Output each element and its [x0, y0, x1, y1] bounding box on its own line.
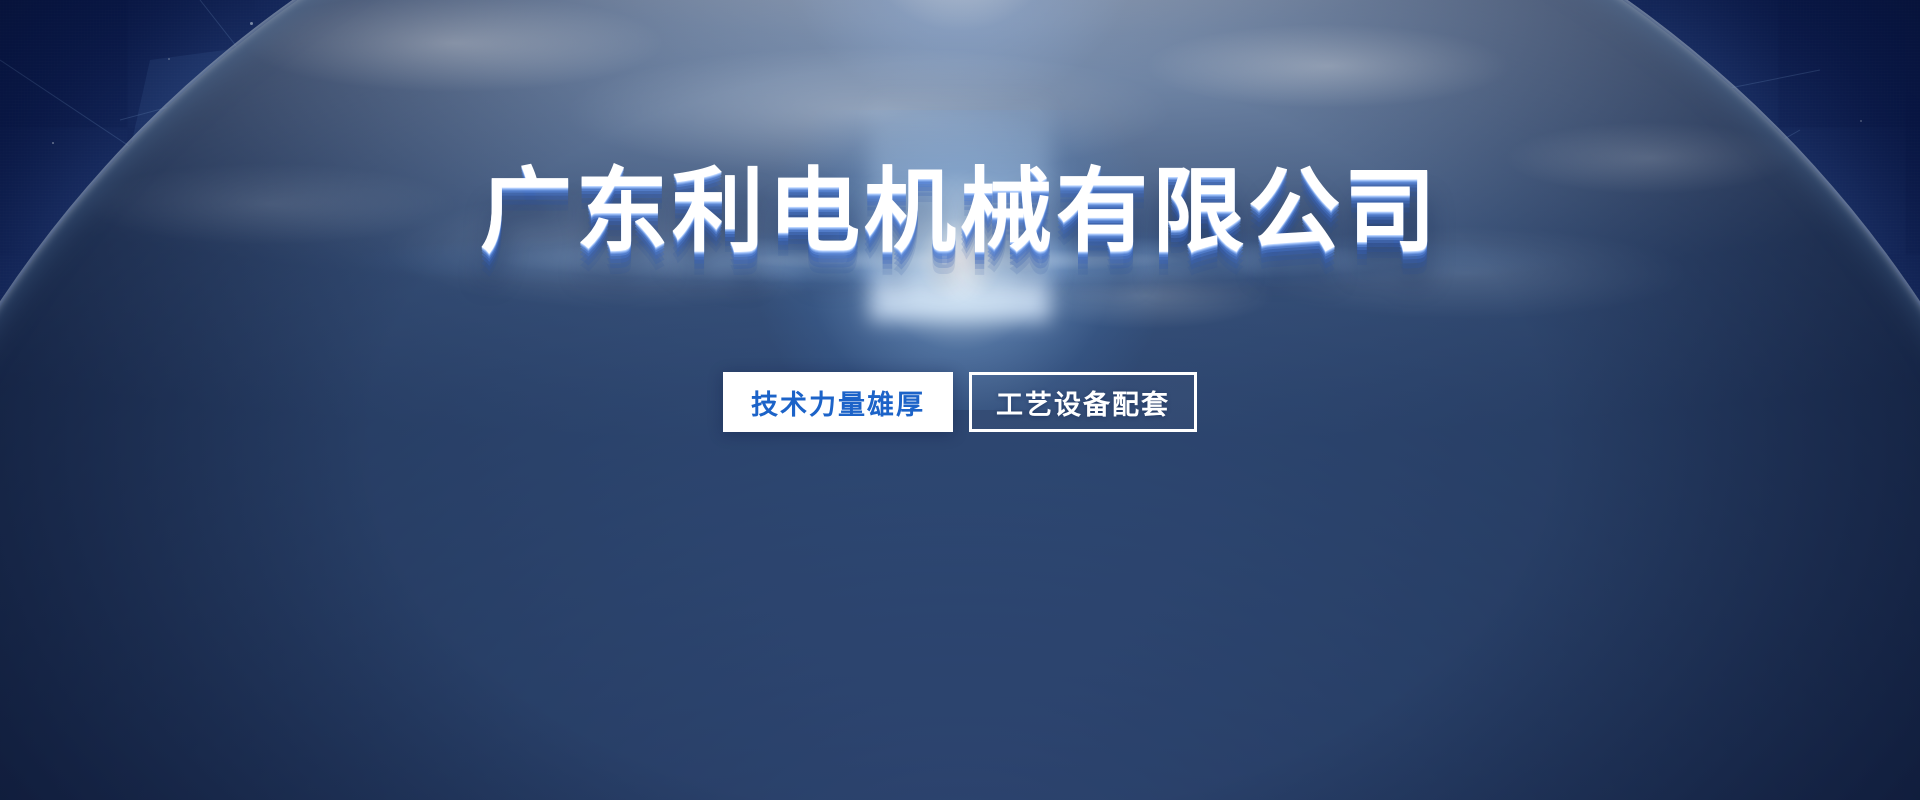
tagline-badge-primary: 技术力量雄厚 [723, 372, 953, 432]
company-title: 广东利电机械有限公司 [0, 163, 1920, 262]
tagline-badge-secondary: 工艺设备配套 [969, 372, 1197, 432]
banner-content: 广东利电机械有限公司 技术力量雄厚 工艺设备配套 [0, 0, 1920, 800]
hero-banner: 广东利电机械有限公司 技术力量雄厚 工艺设备配套 [0, 0, 1920, 800]
tagline-group: 技术力量雄厚 工艺设备配套 [0, 372, 1920, 432]
